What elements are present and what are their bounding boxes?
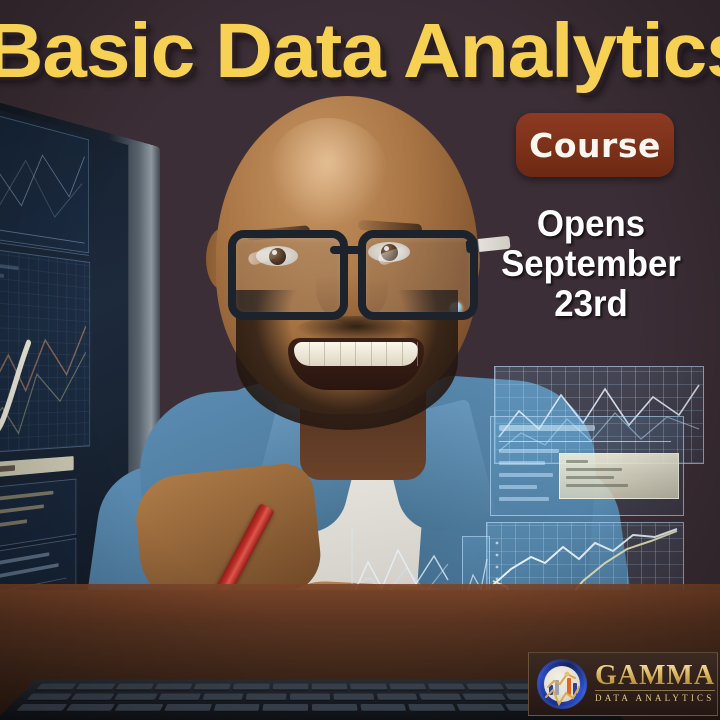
left-lens [228, 230, 348, 320]
right-lens [358, 230, 478, 320]
logo-text-group: GAMMA DATA ANALYTICS [595, 663, 715, 705]
announcement-line-1: Opens [474, 204, 709, 244]
emblem-line-chart [535, 657, 589, 711]
eyeglasses [222, 222, 482, 318]
teeth [294, 342, 418, 366]
logo-subtitle: DATA ANALYTICS [595, 690, 715, 705]
scene-artwork [0, 0, 720, 720]
glasses-bridge [330, 246, 364, 254]
course-badge-label: Course [529, 126, 661, 165]
announcement-line-2: September 23rd [474, 244, 709, 324]
gamma-emblem-icon [535, 657, 589, 711]
logo-name: GAMMA [595, 663, 715, 689]
head-highlight [268, 118, 388, 228]
course-badge: Course [516, 113, 674, 177]
course-promo-poster: Basic Data Analytics Course Opens Septem… [0, 0, 720, 720]
page-title: Basic Data Analytics [0, 6, 720, 96]
brand-logo: GAMMA DATA ANALYTICS [528, 652, 718, 716]
desk-edge [0, 584, 720, 624]
announcement-block: Opens September 23rd [466, 204, 716, 324]
smiling-mouth [288, 338, 424, 390]
